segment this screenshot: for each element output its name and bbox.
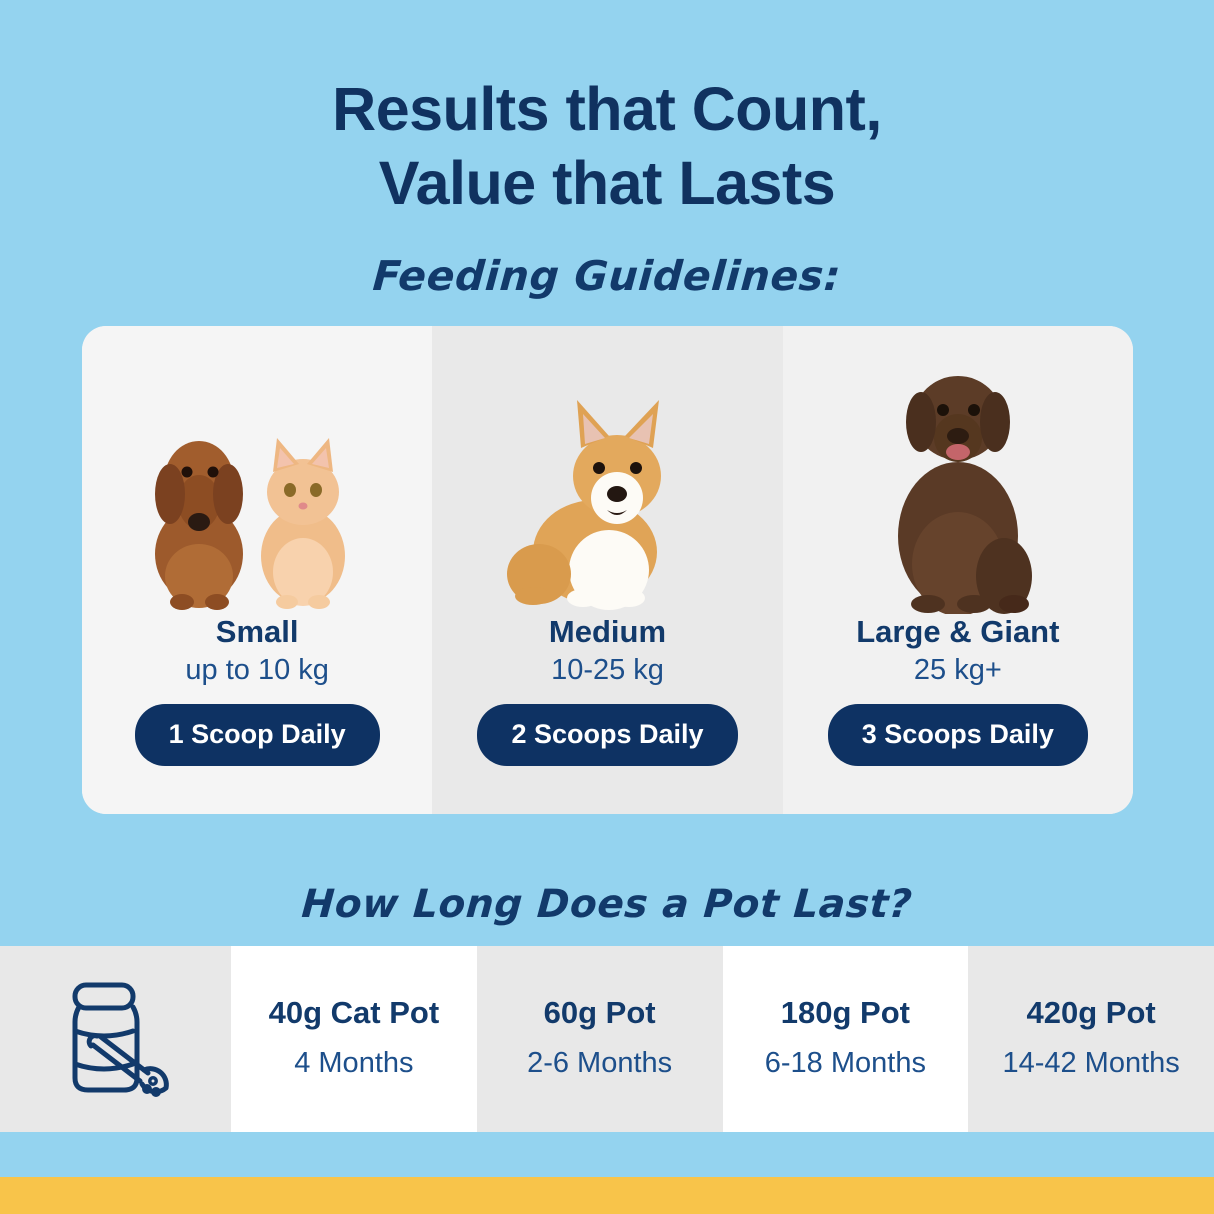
scoop-badge[interactable]: 1 Scoop Daily: [135, 704, 380, 766]
feeding-column-small: Small up to 10 kg 1 Scoop Daily: [82, 326, 432, 814]
blue-divider-band: [0, 1132, 1214, 1177]
pot-size-label: 420g Pot: [1027, 995, 1156, 1031]
chocolate-labrador-photo: [783, 326, 1133, 614]
infographic-page: Results that Count, Value that Lasts Fee…: [0, 0, 1214, 1214]
pot-duration-cell: 180g Pot 6-18 Months: [723, 946, 969, 1132]
pot-with-scoop-icon: [52, 976, 180, 1103]
pot-duration-value: 4 Months: [294, 1043, 413, 1083]
pot-duration-strip: 40g Cat Pot 4 Months 60g Pot 2-6 Months …: [0, 946, 1214, 1132]
pot-size-label: 40g Cat Pot: [269, 995, 440, 1031]
size-weight-range: 10-25 kg: [551, 650, 664, 690]
size-title: Medium: [549, 614, 666, 650]
pot-duration-value: 2-6 Months: [527, 1043, 672, 1083]
scoop-badge[interactable]: 2 Scoops Daily: [477, 704, 737, 766]
pot-size-label: 180g Pot: [781, 995, 910, 1031]
headline-line-1: Results that Count,: [0, 72, 1214, 146]
feeding-guidelines-panel: Small up to 10 kg 1 Scoop Daily: [82, 326, 1133, 814]
pot-duration-cell: 40g Cat Pot 4 Months: [231, 946, 477, 1132]
size-weight-range: 25 kg+: [914, 650, 1002, 690]
feeding-guidelines-heading: Feeding Guidelines:: [0, 252, 1214, 300]
pot-duration-cell: 60g Pot 2-6 Months: [477, 946, 723, 1132]
page-title: Results that Count, Value that Lasts: [0, 72, 1214, 220]
size-weight-range: up to 10 kg: [185, 650, 329, 690]
pot-size-label: 60g Pot: [544, 995, 656, 1031]
yellow-footer-band: [0, 1177, 1214, 1214]
pot-duration-value: 14-42 Months: [1002, 1043, 1179, 1083]
size-title: Large & Giant: [856, 614, 1059, 650]
feeding-column-large-giant: Large & Giant 25 kg+ 3 Scoops Daily: [783, 326, 1133, 814]
pot-duration-heading: How Long Does a Pot Last?: [0, 882, 1214, 927]
headline-line-2: Value that Lasts: [0, 146, 1214, 220]
size-title: Small: [216, 614, 299, 650]
scoop-badge[interactable]: 3 Scoops Daily: [828, 704, 1088, 766]
feeding-column-medium: Medium 10-25 kg 2 Scoops Daily: [432, 326, 782, 814]
pot-icon-cell: [0, 946, 231, 1132]
pembroke-welsh-corgi-photo: [432, 326, 782, 614]
pot-duration-cell: 420g Pot 14-42 Months: [968, 946, 1214, 1132]
pot-duration-value: 6-18 Months: [765, 1043, 926, 1083]
dachshund-and-ginger-kitten-photo: [82, 326, 432, 614]
